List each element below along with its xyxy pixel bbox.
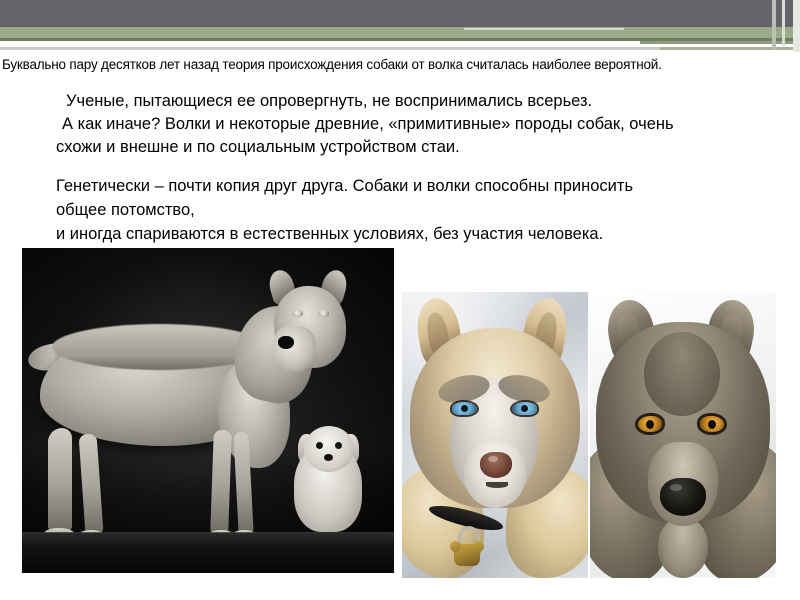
image-gray-wolf xyxy=(590,292,776,578)
wolf-eye-right xyxy=(318,310,329,317)
paragraph-2-line-2: А как иначе? Волки и некоторые древние, … xyxy=(56,113,674,136)
header-dark-band xyxy=(0,0,800,27)
paragraph-genetics: Генетически – почти копия друг друга. Со… xyxy=(56,174,633,246)
header-right-edge-2 xyxy=(782,0,785,46)
husky-nose-highlight xyxy=(488,456,498,462)
header-right-edge-1 xyxy=(772,0,776,50)
header-step-accent-3 xyxy=(660,47,800,50)
paragraph-scientists: Ученые, пытающиеся ее опровергнуть, не в… xyxy=(56,90,674,159)
image-wolf-and-small-dog xyxy=(22,248,394,573)
paragraph-3-line-3: и иногда спариваются в естественных усло… xyxy=(56,222,633,246)
gray-wolf-nose-highlight xyxy=(670,484,682,491)
small-dog-head xyxy=(304,426,354,472)
gray-wolf-forehead xyxy=(644,332,720,416)
header-green-band xyxy=(0,27,800,38)
paragraph-2-line-1: Ученые, пытающиеся ее опровергнуть, не в… xyxy=(56,90,674,113)
gray-wolf-pupil-left xyxy=(646,420,654,429)
header-accent-hairline xyxy=(464,28,624,30)
slide-canvas: Буквально пару десятков лет назад теория… xyxy=(0,0,800,600)
husky-pupil-right xyxy=(521,405,528,412)
small-dog-eye-left xyxy=(316,442,323,449)
gray-wolf-nose xyxy=(660,478,706,516)
wolf-hind-leg-left xyxy=(48,428,72,532)
lead-sentence: Буквально пару десятков лет назад теория… xyxy=(2,57,662,72)
wolf-eye-left xyxy=(292,310,303,317)
paragraph-3-line-1: Генетически – почти копия друг друга. Со… xyxy=(56,174,633,198)
photo-plinth xyxy=(22,533,394,573)
gray-wolf-chin xyxy=(658,518,708,578)
wolf-front-leg-left xyxy=(210,430,232,535)
paragraph-2-line-3: схожи и внешне и по социальным устройств… xyxy=(56,136,674,159)
header-right-edge-3 xyxy=(793,0,800,52)
husky-mouth xyxy=(486,482,508,488)
paragraph-3-line-2: общее потомство, xyxy=(56,198,633,222)
wolf-nose xyxy=(278,336,294,349)
gray-wolf-pupil-right xyxy=(708,420,716,429)
husky-pupil-left xyxy=(461,405,468,412)
small-dog-nose xyxy=(324,454,333,461)
image-husky-dog xyxy=(402,292,588,578)
small-dog-eye-right xyxy=(335,442,342,449)
husky-bone-tag xyxy=(454,544,480,566)
